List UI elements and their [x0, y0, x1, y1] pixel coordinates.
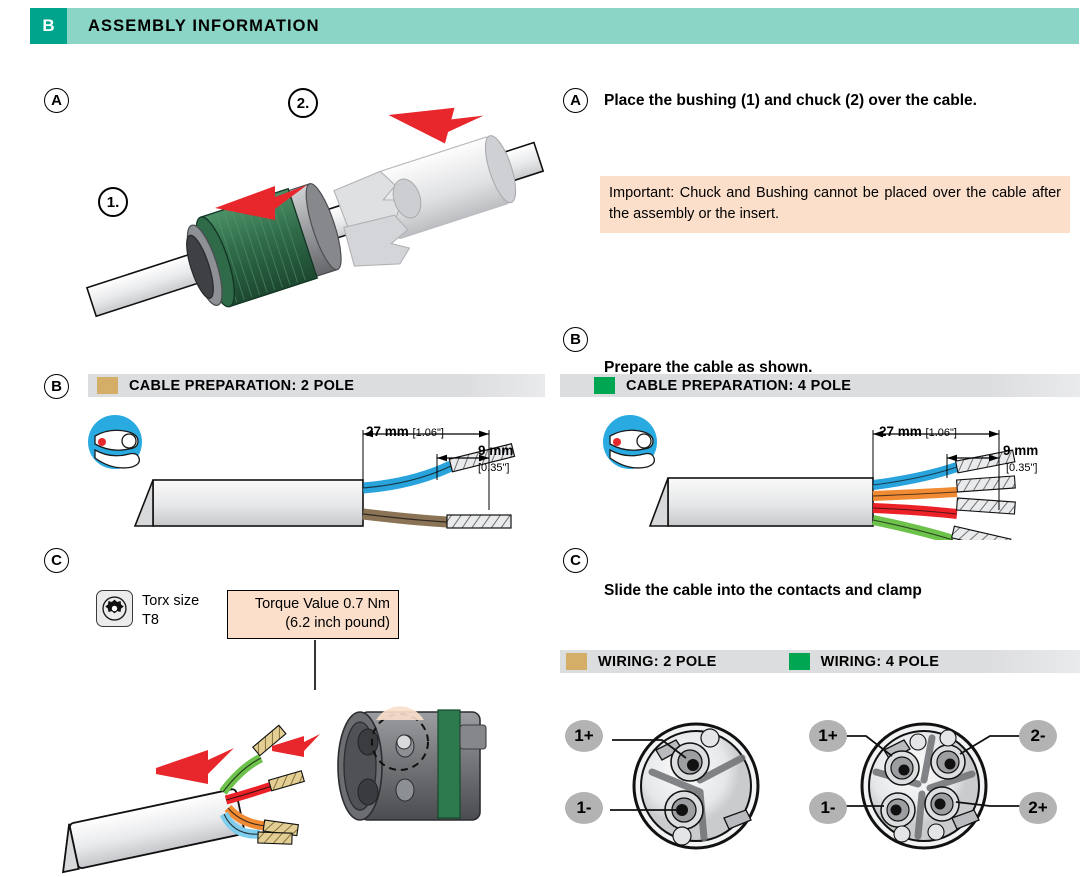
figure-c-illustration [60, 650, 520, 875]
wire-cutter-icon [603, 415, 657, 469]
dim-27mm-2pole-value: 27 mm [366, 424, 409, 439]
swatch-2pole-tan [97, 377, 118, 394]
wiring-4pole-diagram [840, 706, 1040, 866]
pin-label-1minus-2pole: 1- [565, 792, 603, 824]
torque-value-box: Torque Value 0.7 Nm (6.2 inch pound) [227, 590, 399, 639]
dim-27mm-4pole-inch: [1.06"] [926, 427, 957, 439]
step-a-important-note: Important: Chuck and Bushing cannot be p… [600, 176, 1070, 233]
dim-27mm-2pole: 27 mm [1.06"] [366, 424, 444, 439]
torque-value-line2: (6.2 inch pound) [236, 614, 390, 633]
section-badge-letter: B [30, 8, 67, 44]
wiring-4pole-title: WIRING: 4 POLE [821, 654, 940, 670]
dim-27mm-2pole-inch: [1.06"] [413, 427, 444, 439]
cable-prep-4pole-title: CABLE PREPARATION: 4 POLE [626, 378, 851, 394]
figure-assembly-illustration [60, 80, 560, 330]
contact-1plus [671, 743, 709, 781]
callout-2-circle: 2. [288, 88, 318, 118]
cable-prep-2pole-header: CABLE PREPARATION: 2 POLE [88, 374, 545, 397]
step-a-text: Place the bushing (1) and chuck (2) over… [604, 88, 1074, 113]
step-c-marker: C [563, 548, 588, 573]
cable-prep-2pole-illustration [85, 410, 545, 540]
dim-27mm-4pole: 27 mm [1.06"] [879, 424, 957, 439]
swatch-wiring-4pole-green [789, 653, 810, 670]
step-a-marker: A [563, 88, 588, 113]
pin-label-1minus-4pole: 1- [809, 792, 847, 824]
figure-c-marker: C [44, 548, 69, 573]
pin-label-1plus-2pole: 1+ [565, 720, 603, 752]
callout-1-circle: 1. [98, 187, 128, 217]
contact-1plus [885, 751, 919, 785]
contact-2minus [931, 745, 965, 779]
cable-prep-4pole-header: CABLE PREPARATION: 4 POLE [560, 374, 1080, 397]
contact-2plus [925, 787, 959, 821]
dim-9mm-4pole-inch: [0.35"] [1006, 462, 1037, 474]
swatch-wiring-2pole-tan [566, 653, 587, 670]
section-title: ASSEMBLY INFORMATION [88, 8, 320, 44]
figure-b-marker: B [44, 374, 69, 399]
torx-star-icon [96, 590, 133, 627]
step-c-text: Slide the cable into the contacts and cl… [604, 578, 1074, 603]
torx-size-label-line1: Torx size [142, 592, 199, 611]
dim-9mm-2pole-value: 9 mm [478, 443, 513, 458]
step-b-marker: B [563, 327, 588, 352]
wire-cutter-icon [88, 415, 142, 469]
wiring-2pole-diagram [600, 706, 790, 866]
arrow-push-red [156, 748, 234, 784]
pin-label-2minus-4pole: 2- [1019, 720, 1057, 752]
cable-prep-2pole-title: CABLE PREPARATION: 2 POLE [129, 378, 354, 394]
contact-1minus [881, 793, 915, 827]
pin-label-1plus-4pole: 1+ [809, 720, 847, 752]
wiring-2pole-title: WIRING: 2 POLE [598, 654, 717, 670]
swatch-4pole-green [594, 377, 615, 394]
pin-label-2plus-4pole: 2+ [1019, 792, 1057, 824]
wiring-header-bar: WIRING: 2 POLE WIRING: 4 POLE [560, 650, 1080, 673]
dim-27mm-4pole-value: 27 mm [879, 424, 922, 439]
dim-9mm-2pole-inch: [0.35"] [478, 462, 509, 474]
torx-size-label-line2: T8 [142, 611, 159, 630]
dim-9mm-4pole-value: 9 mm [1003, 443, 1038, 458]
cable-prep-4pole-illustration [600, 410, 1070, 540]
torque-value-line1: Torque Value 0.7 Nm [236, 595, 390, 614]
